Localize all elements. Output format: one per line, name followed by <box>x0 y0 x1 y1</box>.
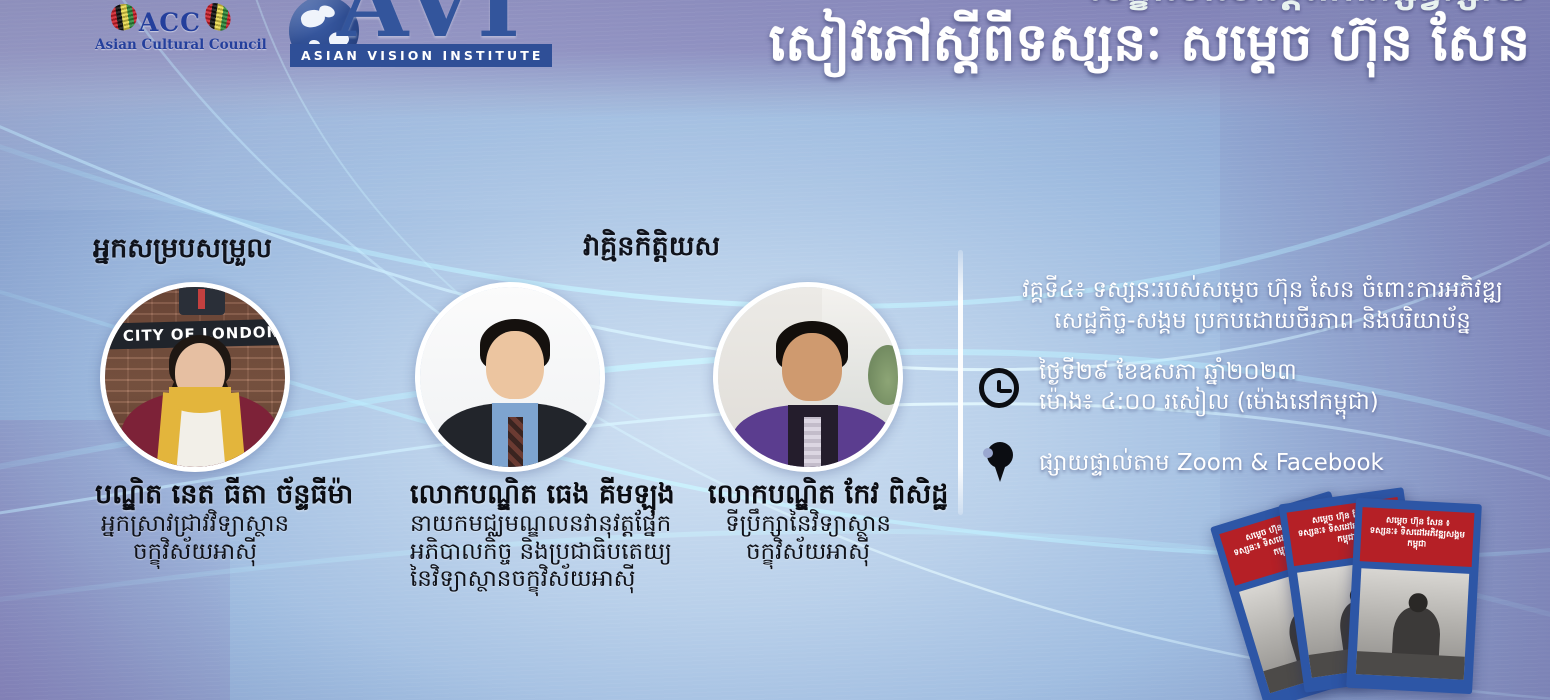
acc-logo: ACC Asian Cultural Council <box>95 2 245 68</box>
avatar <box>713 282 903 472</box>
person-card-moderator: CITY OF LONDON បណ្ឌិត នេត ធីតា ច័ន្ទធីម៉… <box>95 282 295 566</box>
event-location-text: ផ្សាយផ្ទាល់តាម Zoom & Facebook <box>1039 449 1384 479</box>
person-role: ទីប្រឹក្សានៃវិទ្យាស្ថាន ចក្ខុវិស័យអាស៊ី <box>708 511 908 566</box>
person-role-line: ចក្ខុវិស័យអាស៊ី <box>95 539 295 567</box>
event-datetime-text: ថ្ងៃទី២៩ ខែឧសភា ឆ្នាំ២០២៣ ម៉ោង៖ ៤:០០ រសៀ… <box>1039 358 1379 418</box>
event-poster: ACC Asian Cultural Council AVI ASIAN VIS… <box>0 0 1550 700</box>
person-role-line: ទីប្រឹក្សានៃវិទ្យាស្ថាន <box>708 511 908 539</box>
event-date: ថ្ងៃទី២៩ ខែឧសភា ឆ្នាំ២០២៣ <box>1039 358 1379 388</box>
person-role-line: នៃវិទ្យាស្ថានចក្ខុវិស័យអាស៊ី <box>410 566 610 594</box>
acc-abbreviation: ACC <box>95 8 245 37</box>
person-role-line: នាយកមជ្ឈមណ្ឌលនវានុវត្តផ្នែក <box>410 511 610 539</box>
person-card-speaker-1: លោកបណ្ឌិត ធេង គីមឡុង នាយកមជ្ឈមណ្ឌលនវានុវ… <box>410 282 610 594</box>
avi-tagline: ASIAN VISION INSTITUTE <box>290 44 552 67</box>
graduate-portrait: CITY OF LONDON <box>105 287 285 467</box>
poster-headline: សិក្ខាសាលាស្តីពីការផ្សព្វផ្សាយ សៀវភៅស្តី… <box>650 0 1530 96</box>
person-name: លោកបណ្ឌិត ធេង គីមឡុង <box>410 480 610 510</box>
suit-portrait <box>420 287 600 467</box>
event-platform: ផ្សាយផ្ទាល់តាម Zoom & Facebook <box>1039 449 1384 479</box>
headline-top-line: សិក្ខាសាលាស្តីពីការផ្សព្វផ្សាយ <box>650 0 1530 10</box>
acc-mark: ACC <box>95 2 245 36</box>
avatar <box>415 282 605 472</box>
book-title-band: សម្តេច ហ៊ុន សែន ៖ ទស្សនៈ៖ ទិសដៅអភិវឌ្ឍសង… <box>1360 507 1475 567</box>
moderator-heading: អ្នកសម្របសម្រួល <box>93 232 272 271</box>
clock-icon <box>975 364 1023 412</box>
avatar: CITY OF LONDON <box>100 282 290 472</box>
book-photo <box>1356 568 1469 680</box>
person-name: លោកបណ្ឌិត កែវ ពិសិដ្ឋ <box>708 480 908 510</box>
event-details-panel: វគ្គទី៤៖ ទស្សនៈរបស់សម្តេច ហ៊ុន សែន ចំពោះ… <box>975 275 1550 488</box>
person-role: នាយកមជ្ឈមណ្ឌលនវានុវត្តផ្នែក អភិបាលកិច្ច … <box>410 511 610 594</box>
event-topic: វគ្គទី៤៖ ទស្សនៈរបស់សម្តេច ហ៊ុន សែន ចំពោះ… <box>975 275 1550 336</box>
map-pin-icon <box>975 440 1023 488</box>
avi-wordmark: AVI <box>337 0 522 50</box>
vertical-divider <box>958 250 963 515</box>
event-time: ម៉ោង៖ ៤:០០ រសៀល (ម៉ោងនៅកម្ពុជា) <box>1039 388 1379 418</box>
event-location-row: ផ្សាយផ្ទាល់តាម Zoom & Facebook <box>975 440 1550 488</box>
person-card-speaker-2: លោកបណ្ឌិត កែវ ពិសិដ្ឋ ទីប្រឹក្សានៃវិទ្យា… <box>708 282 908 566</box>
person-role: អ្នកស្រាវជ្រាវវិទ្យាស្ថាន ចក្ខុវិស័យអាស៊… <box>95 511 295 566</box>
event-topic-line: វគ្គទី៤៖ ទស្សនៈរបស់សម្តេច ហ៊ុន សែន ចំពោះ… <box>975 275 1550 306</box>
book-cover: សម្តេច ហ៊ុន សែន ៖ ទស្សនៈ៖ ទិសដៅអភិវឌ្ឍសង… <box>1346 498 1482 694</box>
acc-full-name: Asian Cultural Council <box>95 37 245 53</box>
book-title-line: ទស្សនៈ៖ ទិសដៅអភិវឌ្ឍសង្គមកម្ពុជា <box>1363 525 1470 552</box>
speakers-heading: វាគ្មិនកិត្តិយស <box>583 230 720 269</box>
book-stack: សម្តេច ហ៊ុន សែន ៖ ទស្សនៈ៖ ទិសដៅអភិវឌ្ឍសង… <box>1235 495 1550 700</box>
purple-suit-portrait <box>718 287 898 467</box>
avi-logo: AVI ASIAN VISION INSTITUTE <box>285 0 525 72</box>
person-role-line: អ្នកស្រាវជ្រាវវិទ្យាស្ថាន <box>95 511 295 539</box>
person-role-line: អភិបាលកិច្ច និងប្រជាធិបតេយ្យ <box>410 539 610 567</box>
logo-group: ACC Asian Cultural Council AVI ASIAN VIS… <box>0 0 560 100</box>
person-name: បណ្ឌិត នេត ធីតា ច័ន្ទធីម៉ា <box>95 480 295 510</box>
person-role-line: ចក្ខុវិស័យអាស៊ី <box>708 539 908 567</box>
event-topic-line: សេដ្ឋកិច្ច-សង្គម ប្រកបដោយចីរភាព និងបរិយា… <box>975 306 1550 337</box>
event-datetime-row: ថ្ងៃទី២៩ ខែឧសភា ឆ្នាំ២០២៣ ម៉ោង៖ ៤:០០ រសៀ… <box>975 358 1550 418</box>
headline-main-line: សៀវភៅស្តីពីទស្សនៈ សម្តេច ហ៊ុន សែន <box>650 12 1530 75</box>
